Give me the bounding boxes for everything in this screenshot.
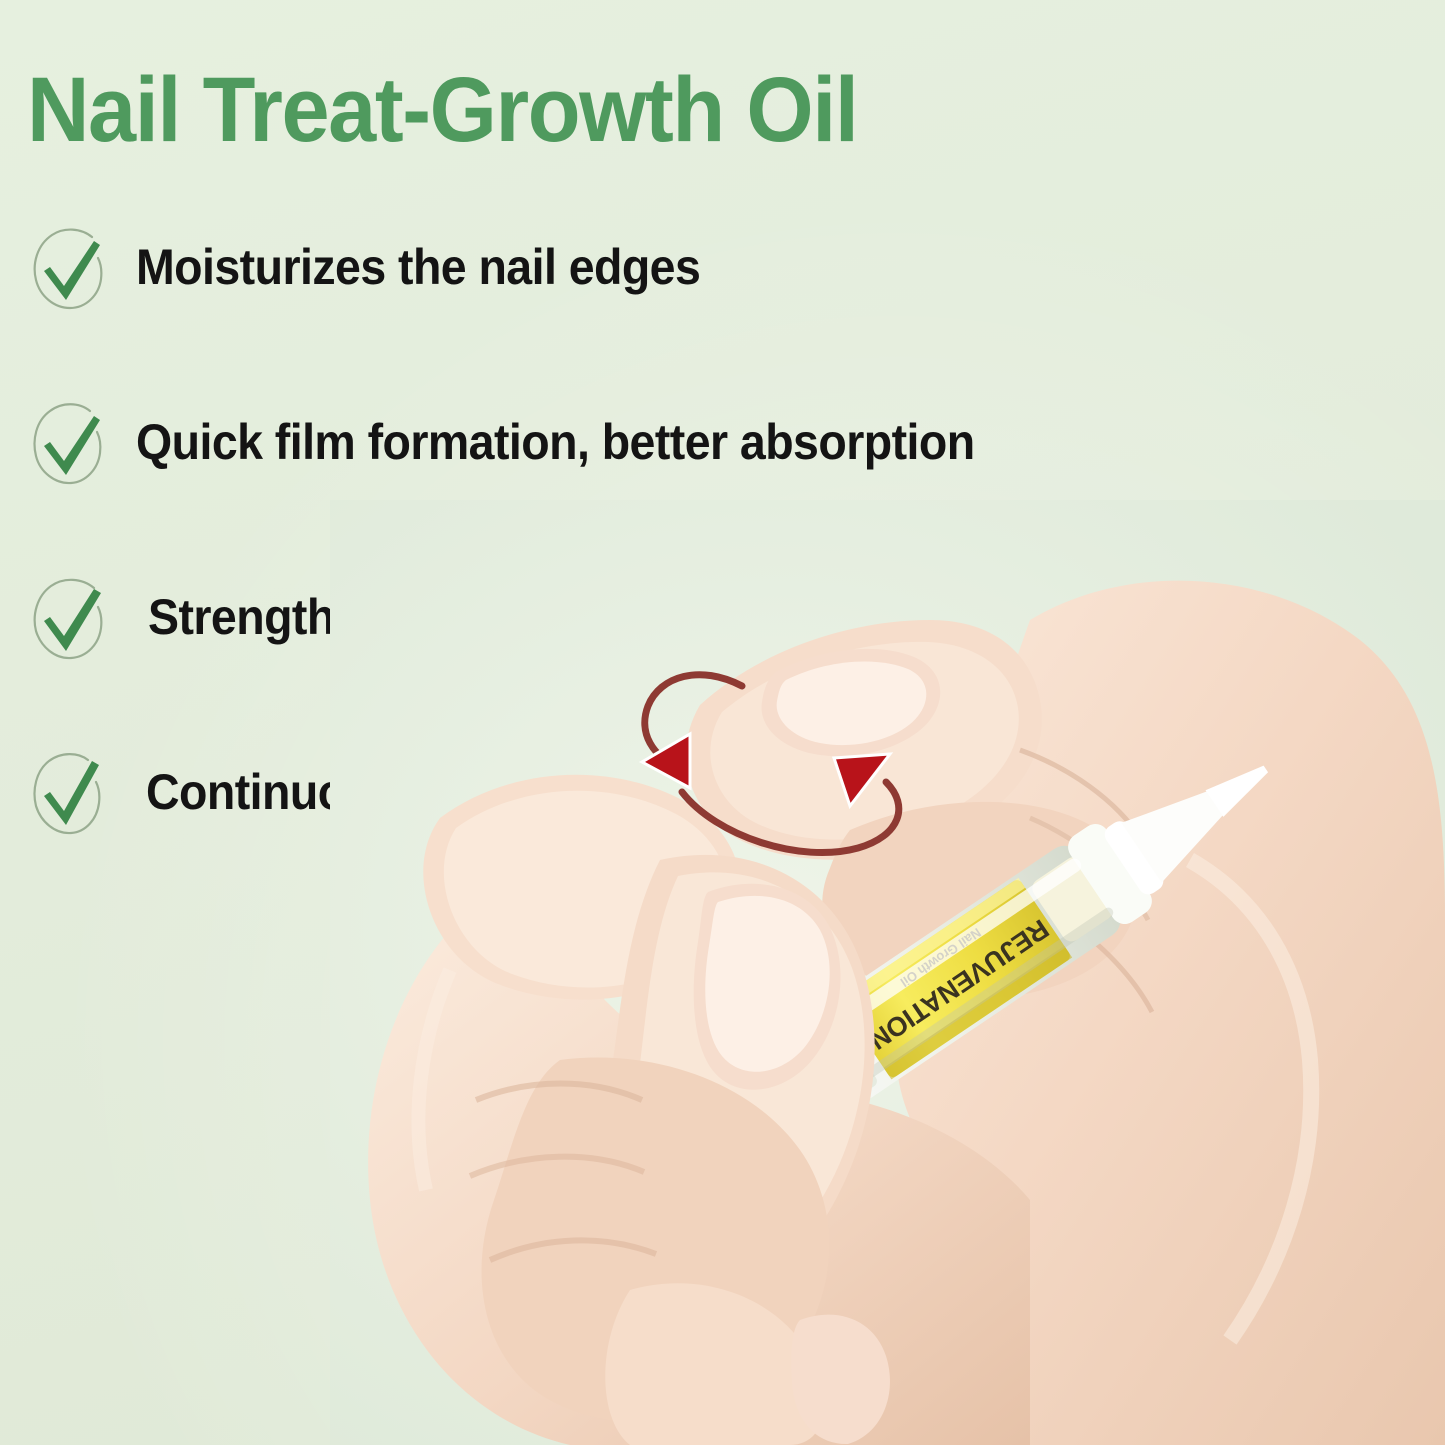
check-circle-icon (24, 749, 114, 841)
list-item: Moisturizes the nail edges (0, 218, 1100, 393)
check-circle-icon (24, 224, 114, 316)
list-item-label: Moisturizes the nail edges (136, 238, 700, 296)
page-title: Nail Treat-Growth Oil (27, 62, 858, 159)
product-feature-image: Nail Treat-Growth Oil Moisturizes the na… (0, 0, 1445, 1445)
check-circle-icon (24, 399, 114, 491)
list-item-label: Quick film formation, better absorption (136, 413, 975, 471)
product-photo: REJUVENATION Nail Growth Oil (330, 500, 1445, 1445)
check-circle-icon (24, 574, 114, 666)
